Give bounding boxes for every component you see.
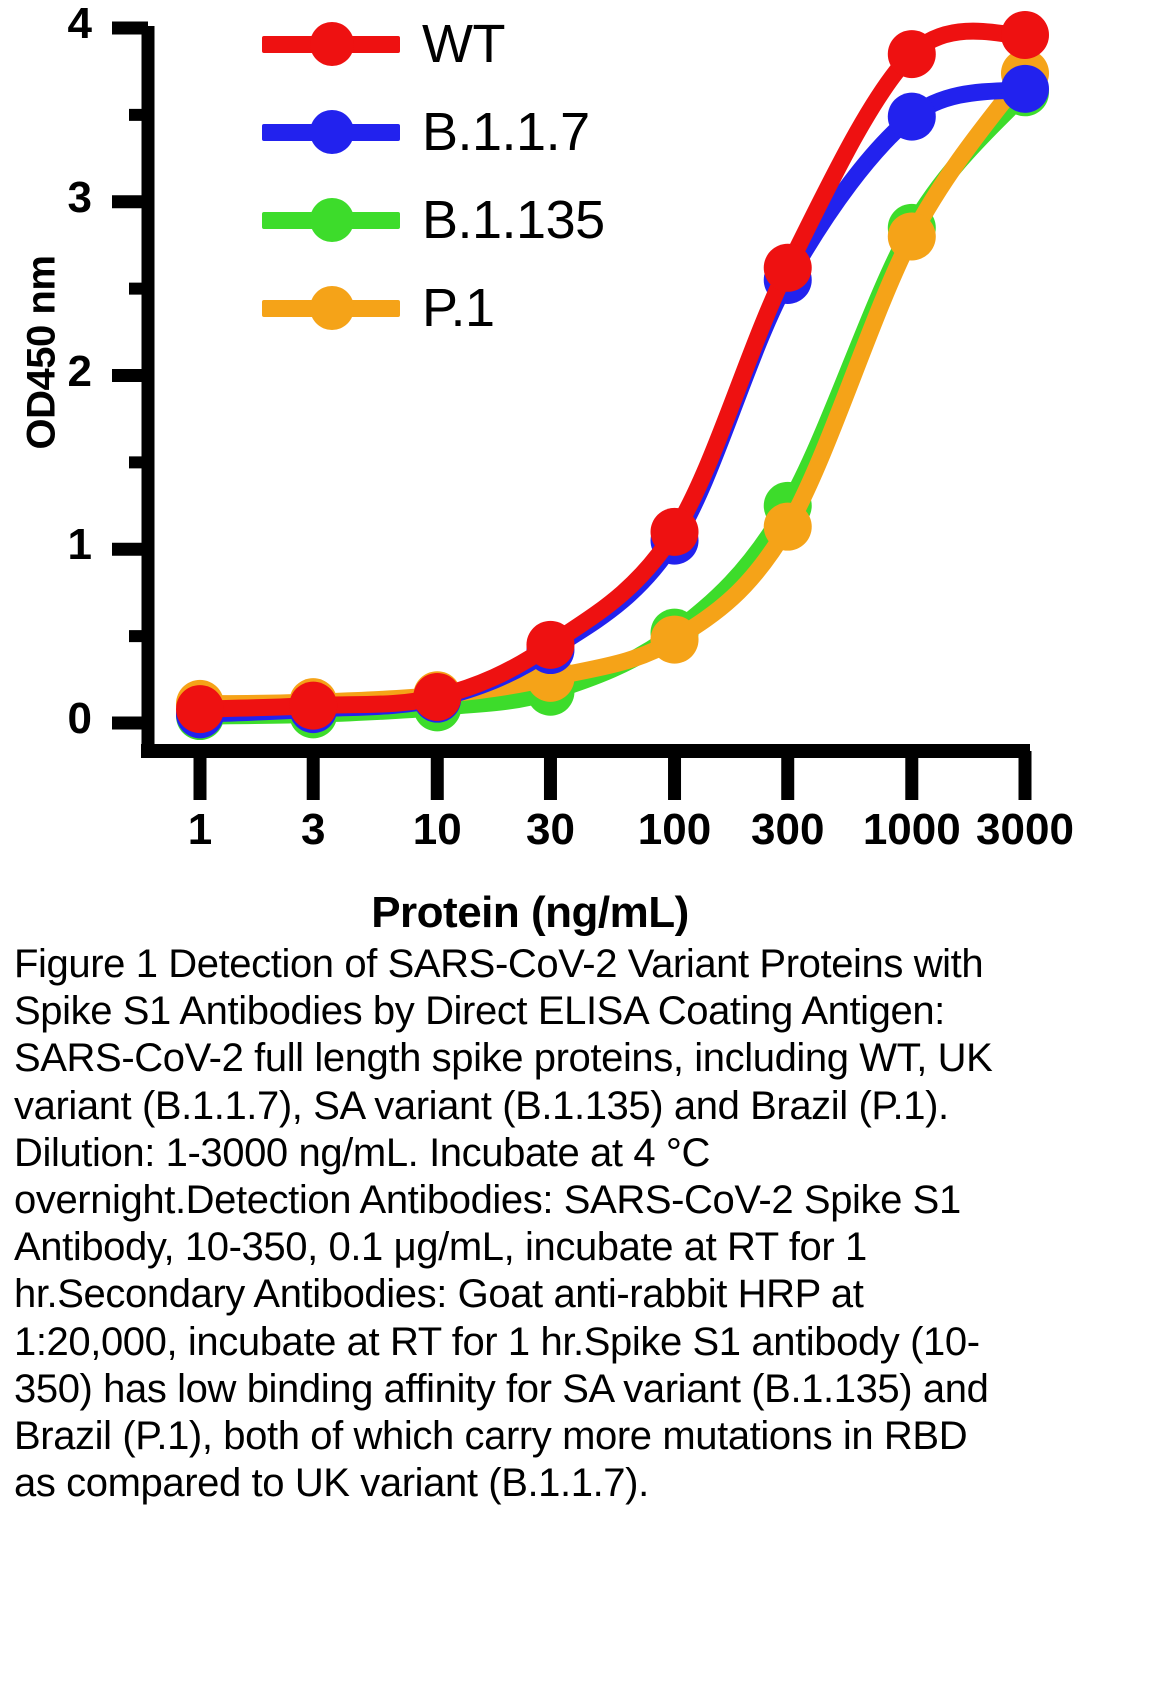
legend-label: B.1.135 <box>422 193 605 247</box>
figure-container: OD450 nm 01234 13103010030010003000 Prot… <box>0 0 1151 1681</box>
data-point <box>764 503 812 551</box>
data-point <box>1001 65 1049 113</box>
legend-item-WT[interactable]: WT <box>262 0 605 88</box>
legend-marker-icon <box>310 286 354 330</box>
x-tick-label: 300 <box>751 808 824 852</box>
data-point <box>888 30 936 78</box>
x-tick-label: 30 <box>526 808 575 852</box>
legend-label: WT <box>422 17 505 71</box>
data-point <box>413 673 461 721</box>
data-point <box>1001 11 1049 59</box>
data-point <box>526 621 574 669</box>
data-point <box>764 244 812 292</box>
legend-label: P.1 <box>422 281 495 335</box>
chart-legend: WTB.1.1.7B.1.135P.1 <box>262 0 605 352</box>
legend-swatch <box>262 110 400 154</box>
x-tick-label: 3000 <box>976 808 1074 852</box>
legend-marker-icon <box>310 110 354 154</box>
legend-label: B.1.1.7 <box>422 105 590 159</box>
x-tick-label: 100 <box>638 808 711 852</box>
x-tick-label: 10 <box>413 808 462 852</box>
legend-marker-icon <box>310 198 354 242</box>
data-point <box>888 93 936 141</box>
legend-item-B-1-1-7[interactable]: B.1.1.7 <box>262 88 605 176</box>
legend-marker-icon <box>310 22 354 66</box>
data-point <box>888 213 936 261</box>
data-point <box>289 682 337 730</box>
x-tick-label: 1 <box>188 808 212 852</box>
legend-swatch <box>262 286 400 330</box>
legend-swatch <box>262 22 400 66</box>
data-point <box>651 616 699 664</box>
data-point <box>651 508 699 556</box>
legend-swatch <box>262 198 400 242</box>
x-tick-label: 3 <box>301 808 325 852</box>
legend-item-P-1[interactable]: P.1 <box>262 264 605 352</box>
chart-plot-area: OD450 nm 01234 13103010030010003000 Prot… <box>0 0 1151 940</box>
figure-caption: Figure 1 Detection of SARS-CoV-2 Variant… <box>14 941 1014 1507</box>
x-axis-title: Protein (ng/mL) <box>0 888 1060 938</box>
x-tick-label: 1000 <box>863 808 961 852</box>
legend-item-B-1-135[interactable]: B.1.135 <box>262 176 605 264</box>
data-point <box>176 685 224 733</box>
